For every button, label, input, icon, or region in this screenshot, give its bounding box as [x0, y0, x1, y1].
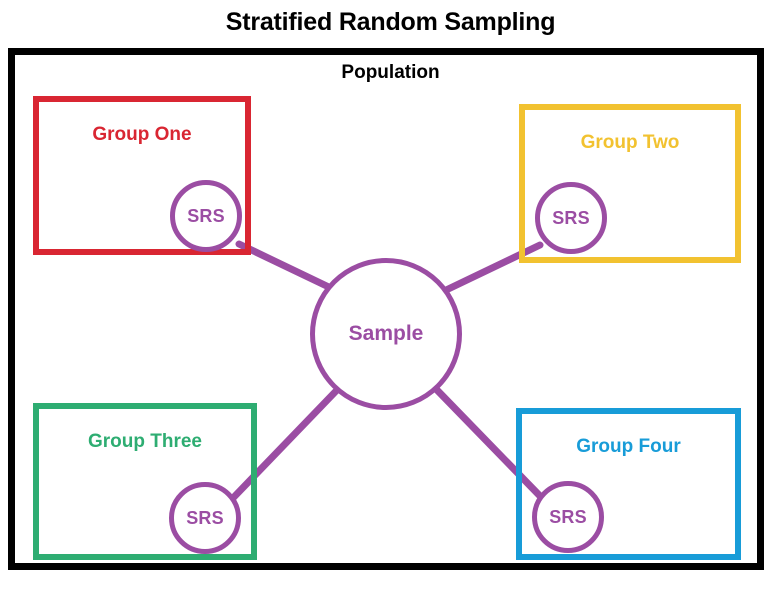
group-label-group-two: Group Two — [525, 132, 735, 154]
sample-circle[interactable]: Sample — [310, 258, 462, 410]
srs-circle-group-two[interactable]: SRS — [535, 182, 607, 254]
group-label-group-three: Group Three — [39, 431, 251, 453]
srs-circle-group-three[interactable]: SRS — [169, 482, 241, 554]
srs-circle-group-one[interactable]: SRS — [170, 180, 242, 252]
srs-label-group-one: SRS — [187, 206, 225, 227]
srs-label-group-two: SRS — [552, 208, 590, 229]
page-title: Stratified Random Sampling — [0, 8, 781, 37]
sample-label: Sample — [349, 322, 424, 346]
srs-label-group-four: SRS — [549, 507, 587, 528]
group-label-group-four: Group Four — [522, 436, 735, 458]
srs-label-group-three: SRS — [186, 508, 224, 529]
diagram-canvas: Stratified Random Sampling Population Gr… — [0, 0, 781, 592]
srs-circle-group-four[interactable]: SRS — [532, 481, 604, 553]
population-label: Population — [0, 62, 781, 84]
group-label-group-one: Group One — [39, 124, 245, 146]
